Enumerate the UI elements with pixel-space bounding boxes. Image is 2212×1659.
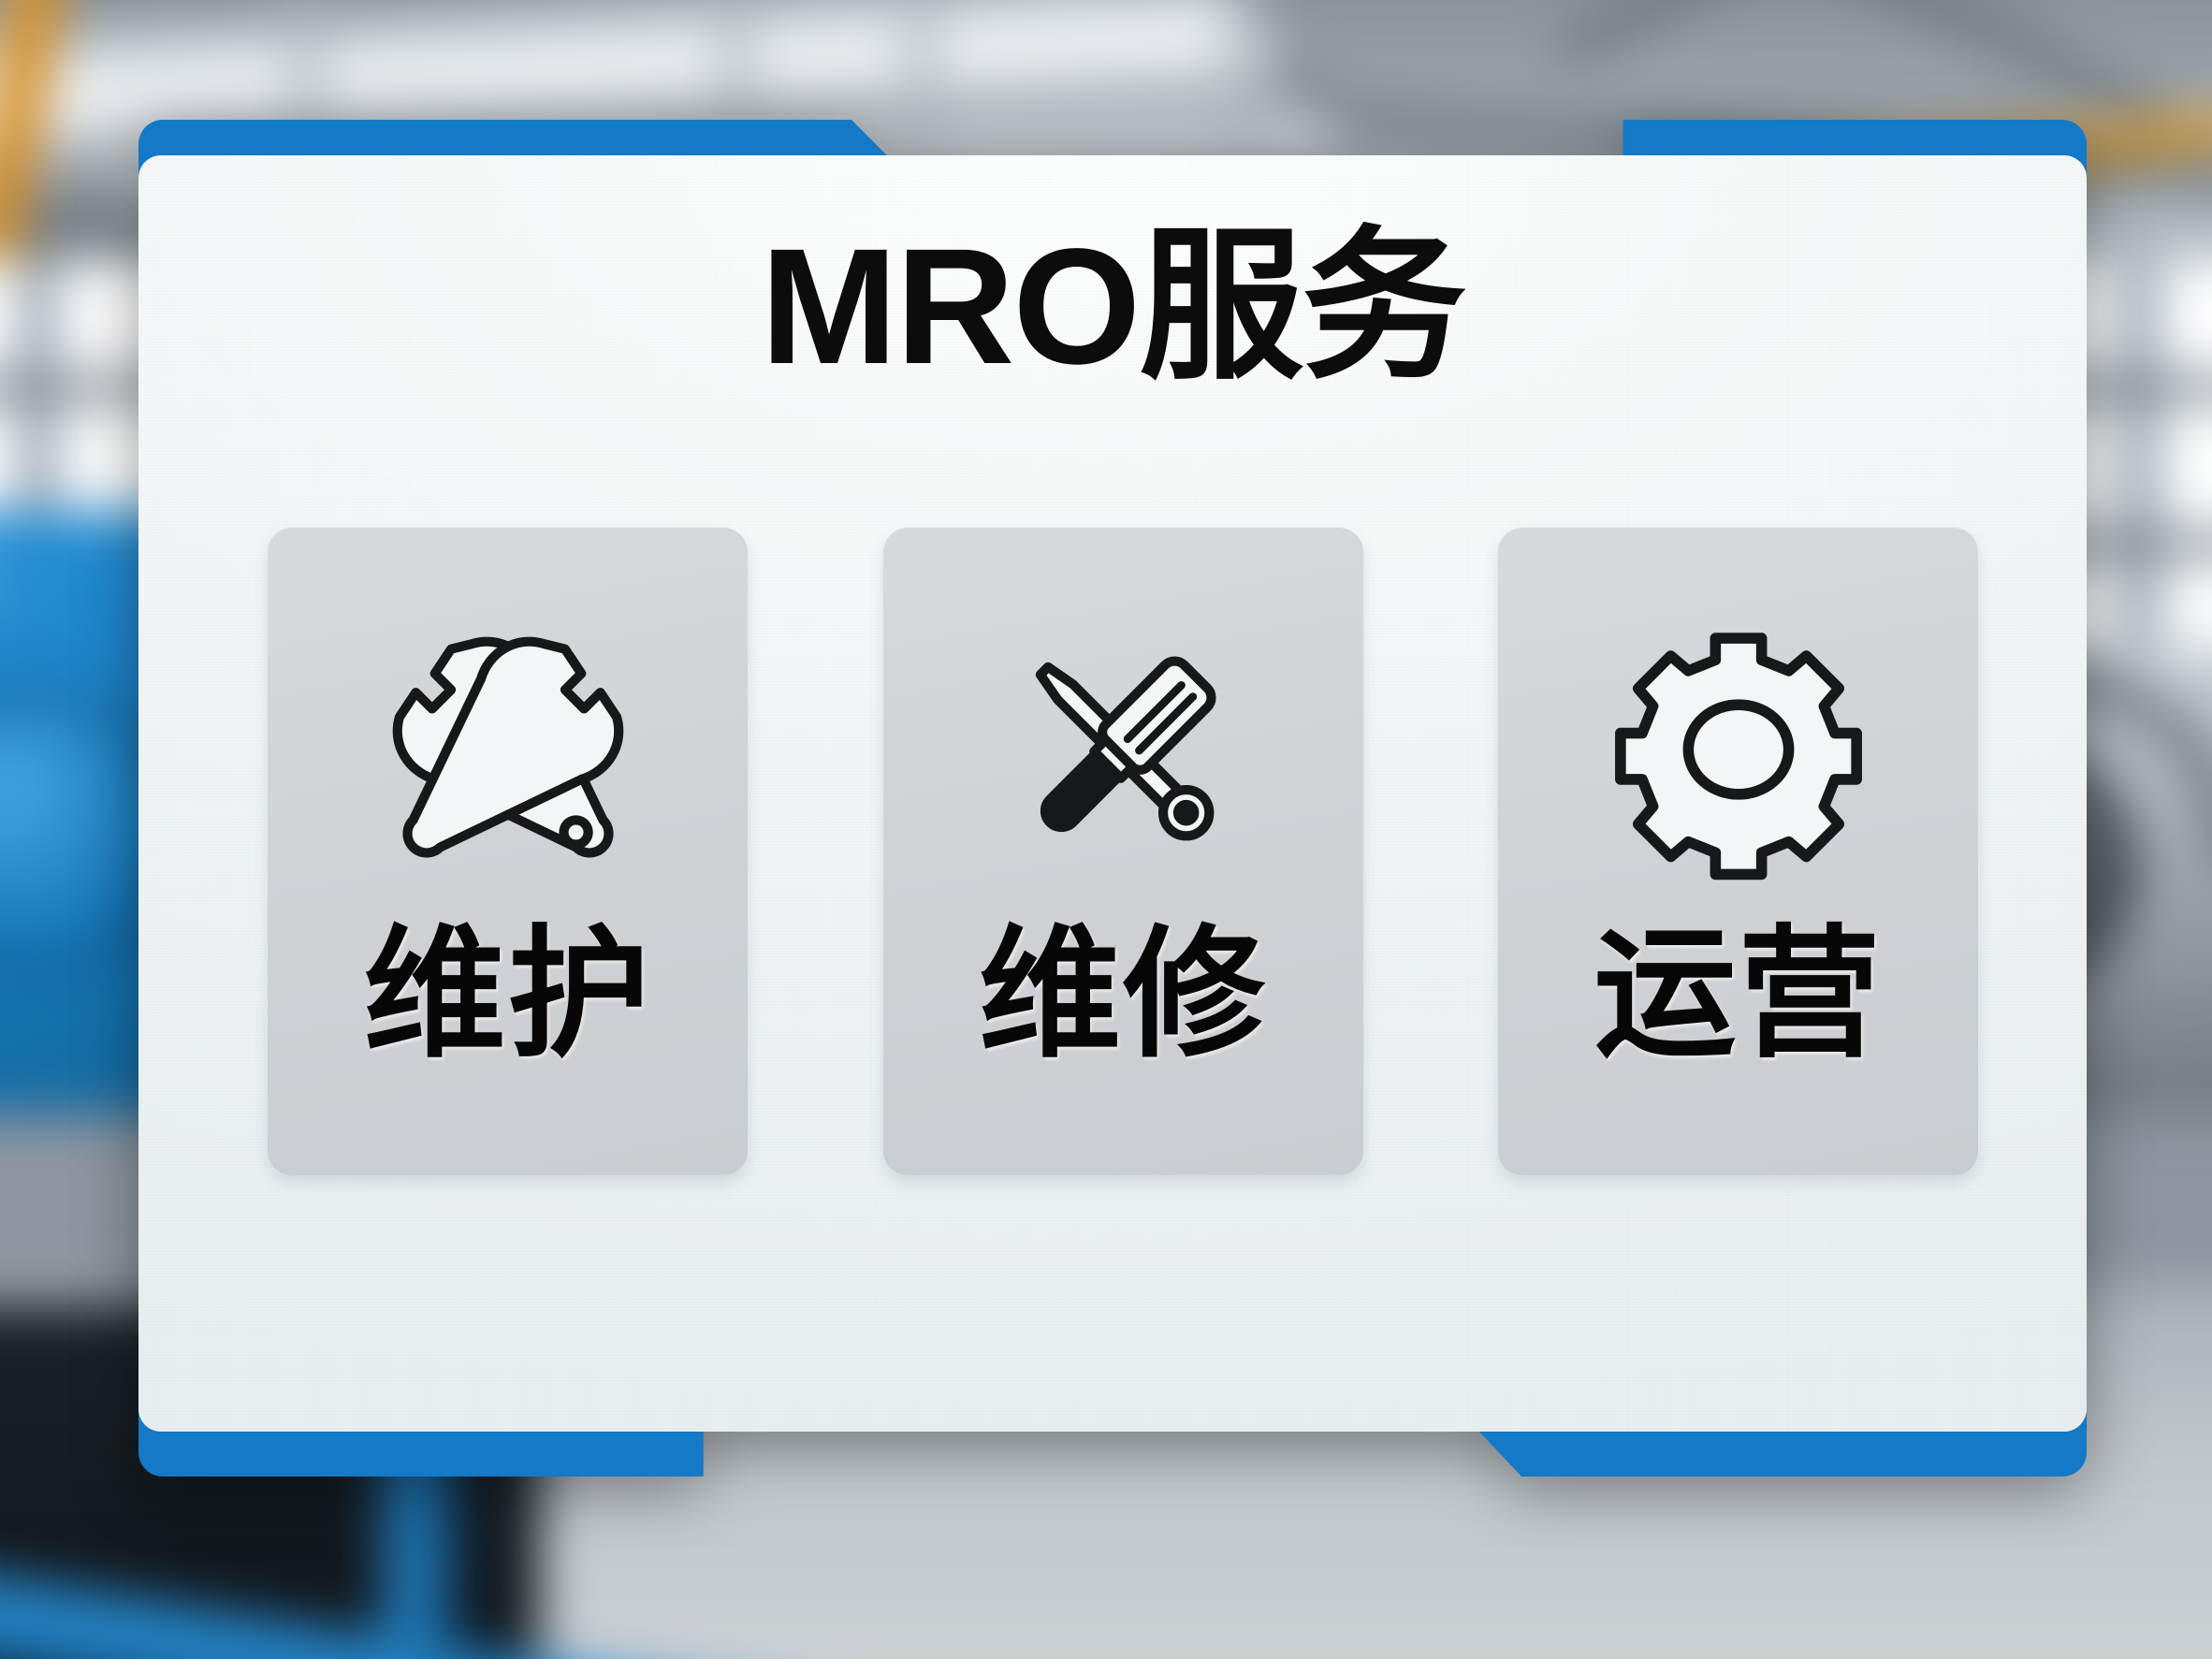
poster-canvas: MRO服务 维护 — [0, 0, 2212, 1659]
main-panel: MRO服务 维护 — [138, 120, 2087, 1477]
panel-content: MRO服务 维护 — [138, 155, 2087, 1432]
crossed-screwdriver-icon — [982, 614, 1263, 885]
service-card-label: 运营 — [1594, 921, 1883, 1070]
bg-machine-cap — [0, 551, 14, 658]
service-card-list: 维护 — [268, 528, 1978, 1175]
service-card-operations[interactable]: 运营 — [1498, 528, 1978, 1175]
page-title: MRO服务 — [138, 225, 2087, 389]
service-card-maintenance[interactable]: 维护 — [268, 528, 748, 1175]
service-card-label: 维护 — [364, 921, 652, 1070]
gear-icon — [1598, 614, 1879, 885]
crossed-wrenches-icon — [368, 614, 648, 885]
service-card-label: 维修 — [979, 921, 1267, 1070]
service-card-repair[interactable]: 维修 — [883, 528, 1363, 1175]
